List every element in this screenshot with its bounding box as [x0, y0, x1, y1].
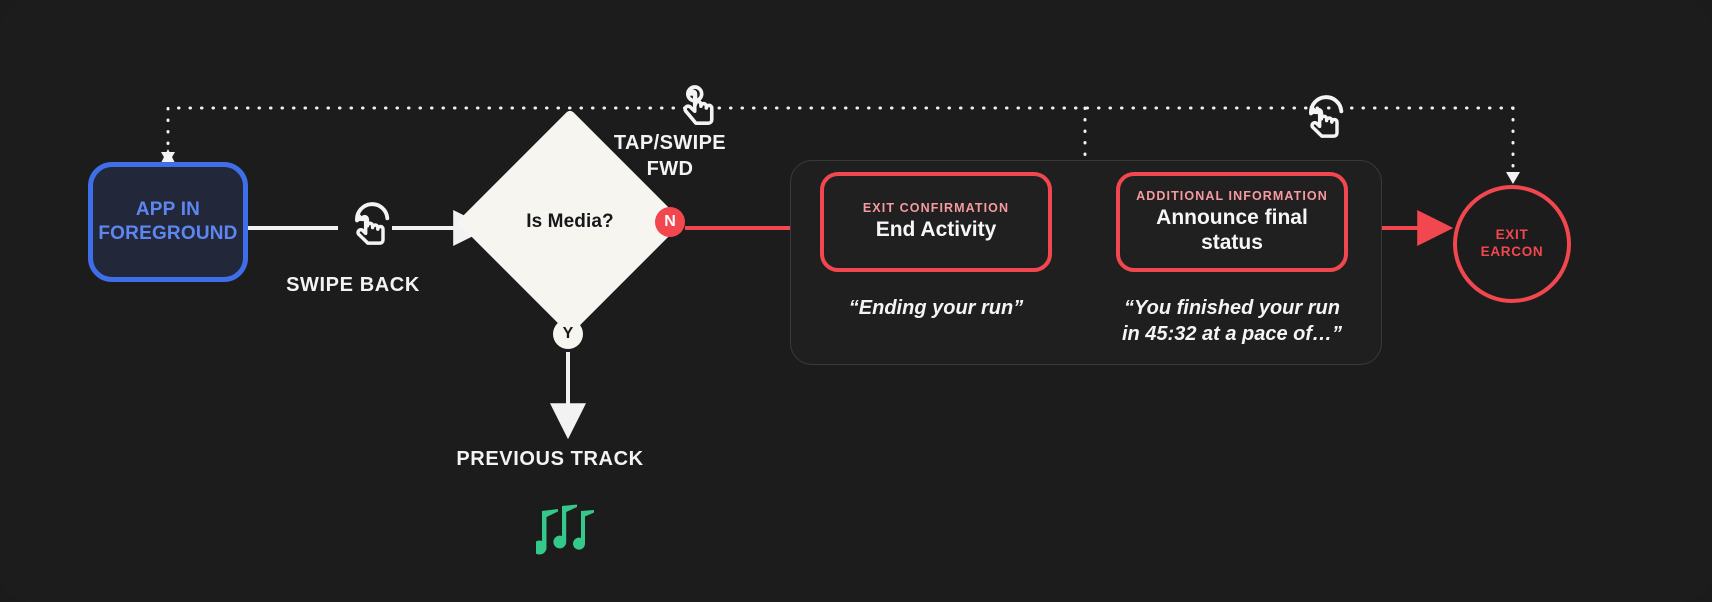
swipe-gesture-icon [344, 202, 396, 259]
card-info-quote-line2: in 45:32 at a pace of…” [1122, 323, 1342, 345]
branch-badge-no: N [655, 207, 685, 237]
tap-gesture-icon [672, 82, 724, 139]
card-exit-eyebrow: EXIT CONFIRMATION [863, 201, 1009, 215]
flow-diagram-canvas: APP IN FOREGROUND Is Media? N Y EXIT CON… [0, 0, 1712, 602]
caption-swipe-back: SWIPE BACK [268, 274, 438, 297]
music-notes-icon [536, 497, 600, 562]
node-exit-earcon[interactable]: EXIT EARCON [1453, 185, 1571, 303]
node-app-in-foreground[interactable]: APP IN FOREGROUND [88, 162, 248, 282]
card-exit-quote: “Ending your run” [801, 295, 1071, 321]
swipe-return-gesture-icon [1298, 95, 1350, 152]
node-app-label-line1: APP IN [136, 199, 200, 220]
node-app-label-line2: FOREGROUND [98, 223, 237, 244]
earcon-label-line2: EARCON [1481, 244, 1544, 259]
card-info-eyebrow: ADDITIONAL INFORMATION [1136, 189, 1328, 203]
node-app-label: APP IN FOREGROUND [98, 198, 237, 247]
arrow-into-earcon [1506, 172, 1520, 184]
card-exit-confirmation[interactable]: EXIT CONFIRMATION End Activity [820, 172, 1052, 272]
card-additional-information[interactable]: ADDITIONAL INFORMATION Announce final st… [1116, 172, 1348, 272]
card-exit-title: End Activity [876, 218, 997, 243]
caption-previous-track: PREVIOUS TRACK [430, 448, 670, 471]
card-info-quote: “You finished your run in 45:32 at a pac… [1097, 295, 1367, 347]
caption-tap-swipe-line2: FWD [647, 158, 694, 180]
card-info-title: Announce final status [1134, 206, 1330, 256]
earcon-label: EXIT EARCON [1481, 227, 1544, 261]
caption-tap-swipe-fwd: TAP/SWIPE FWD [570, 130, 770, 183]
branch-badge-yes: Y [553, 319, 583, 349]
card-info-quote-line1: “You finished your run [1124, 297, 1340, 319]
earcon-label-line1: EXIT [1496, 227, 1529, 242]
